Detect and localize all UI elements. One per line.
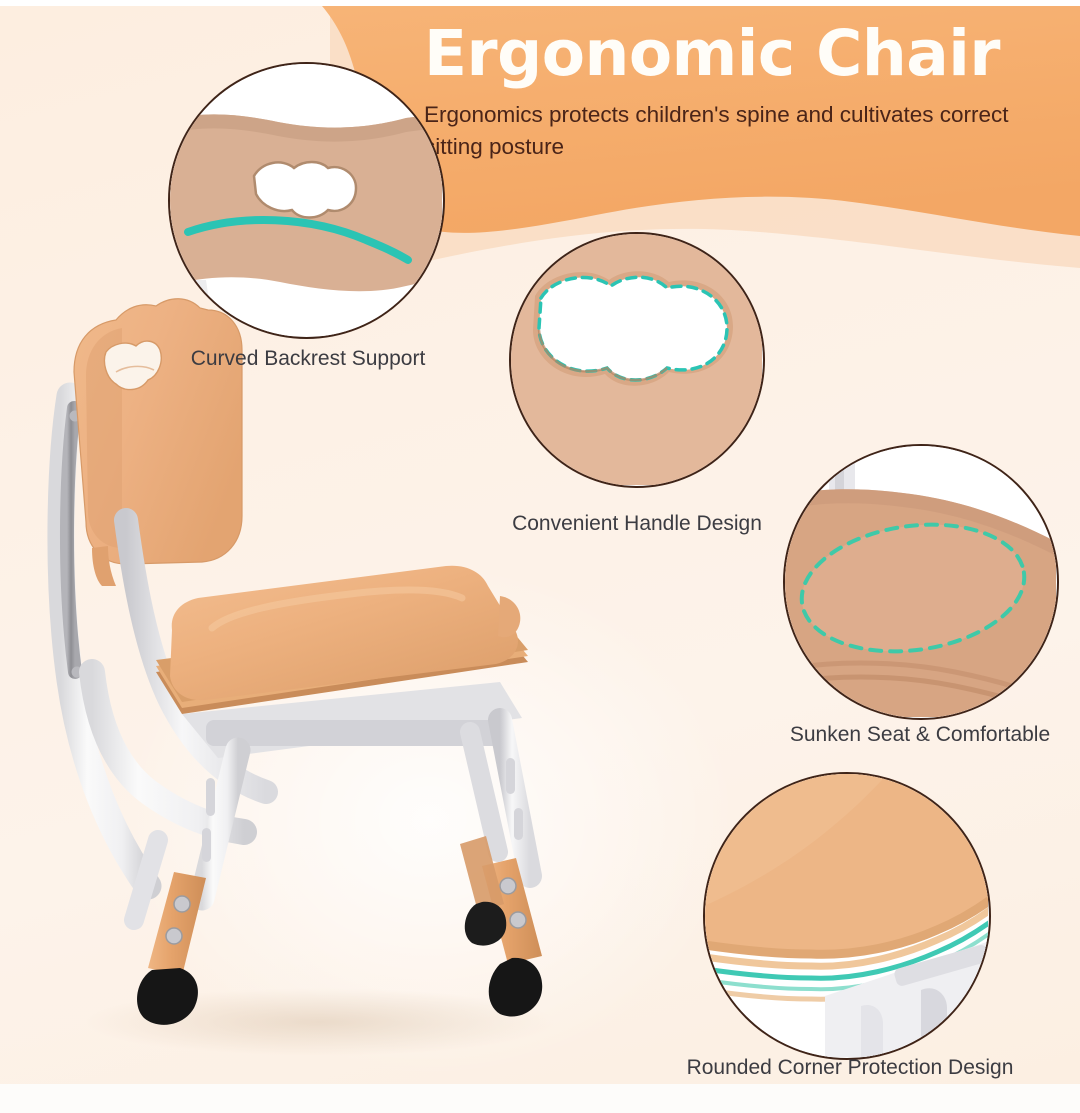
leg-screw-fl-2	[166, 928, 182, 944]
product-chair-image	[30, 280, 590, 1080]
leg-slot-fr-1	[506, 758, 515, 794]
leg-slot-fl-2	[202, 828, 211, 862]
chair-foot-rear-right	[465, 902, 506, 946]
callout-2-circle	[509, 232, 765, 488]
leg-screw-fr-1	[500, 878, 516, 894]
callout-3-caption: Sunken Seat & Comfortable	[740, 723, 1080, 747]
header-banner: Ergonomic Chair Ergonomics protects chil…	[0, 6, 1080, 286]
leg-slot-fr-2	[514, 808, 523, 840]
seat-scallop	[498, 596, 520, 637]
bottom-white-strip	[0, 1084, 1080, 1113]
frame-leg-stub	[861, 1005, 883, 1057]
callout-1-circle	[168, 62, 445, 339]
chair-seat	[170, 566, 518, 701]
leg-screw-fr-2	[510, 912, 526, 928]
leg-screw-fl-1	[174, 896, 190, 912]
callout-1-detail	[170, 64, 442, 336]
chair-illustration	[30, 280, 590, 1080]
callout-2-caption: Convenient Handle Design	[452, 512, 822, 536]
handle-cutout-white	[539, 277, 727, 380]
chair-foot-front-right	[489, 958, 542, 1017]
callout-3-detail	[785, 446, 1056, 717]
page-title: Ergonomic Chair	[424, 22, 1074, 85]
page-subtitle: Ergonomics protects children's spine and…	[424, 99, 1024, 163]
infographic-canvas: Ergonomic Chair Ergonomics protects chil…	[0, 0, 1080, 1113]
leg-slot-fl-1	[206, 778, 215, 816]
callout-3-circle	[783, 444, 1059, 720]
header-text-group: Ergonomic Chair Ergonomics protects chil…	[424, 22, 1074, 163]
callout-4-circle	[703, 772, 991, 1060]
callout-4-detail	[705, 774, 988, 1057]
callout-1-caption: Curved Backrest Support	[118, 347, 498, 371]
callout-4-caption: Rounded Corner Protection Design	[630, 1056, 1070, 1080]
chair-leg-front-left	[202, 750, 238, 898]
callout-2-detail	[511, 234, 762, 485]
backrest-adjust-bar	[67, 408, 75, 672]
